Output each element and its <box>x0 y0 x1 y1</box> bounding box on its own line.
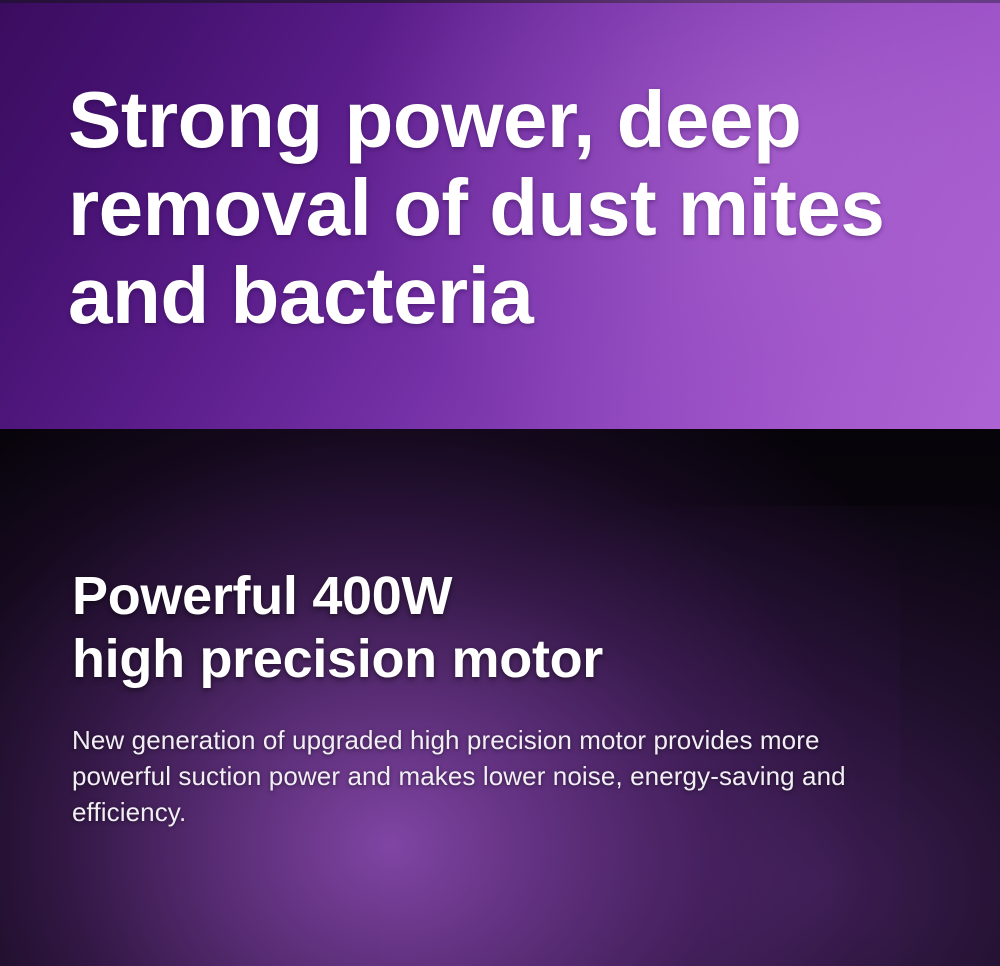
dark-feature-panel: Powerful 400W high precision motor New g… <box>0 429 1000 966</box>
main-headline: Strong power, deep removal of dust mites… <box>68 76 958 340</box>
motor-description: New generation of upgraded high precisio… <box>72 722 872 830</box>
top-edge-strip <box>0 0 1000 3</box>
product-feature-banner: Strong power, deep removal of dust mites… <box>0 0 1000 966</box>
purple-headline-panel: Strong power, deep removal of dust mites… <box>0 0 1000 429</box>
dark-panel-content: Powerful 400W high precision motor New g… <box>72 565 932 830</box>
motor-subheadline: Powerful 400W high precision motor <box>72 565 932 691</box>
